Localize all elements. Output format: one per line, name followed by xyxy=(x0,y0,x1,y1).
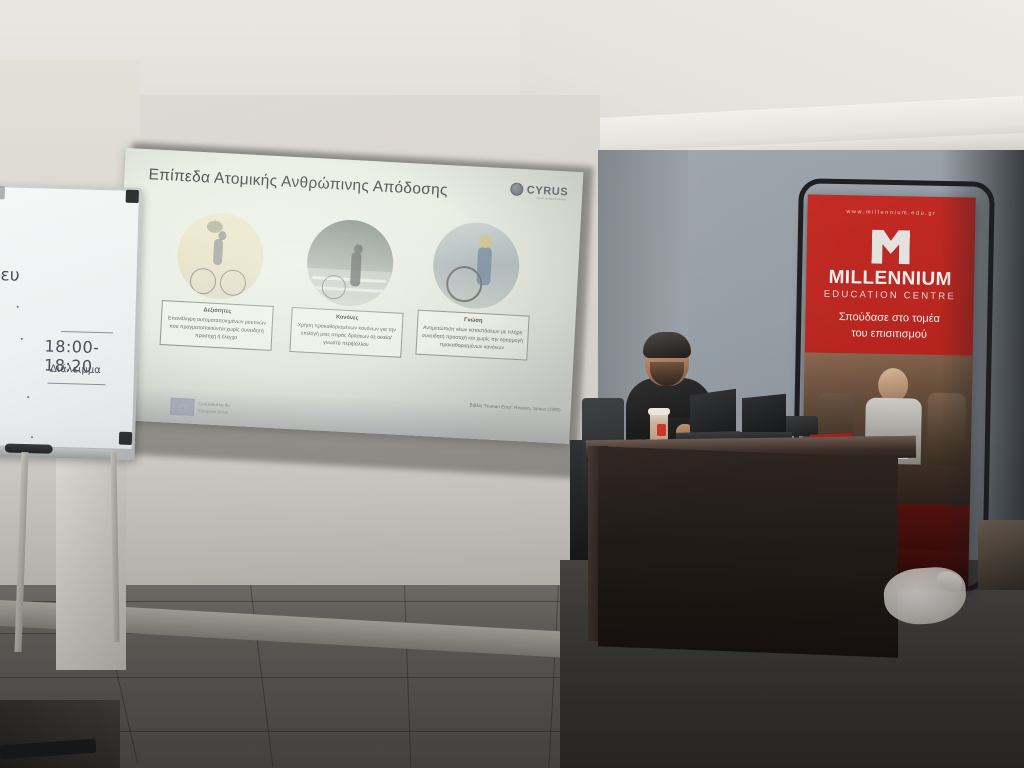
cyrus-logo-text: CYRUS xyxy=(526,184,568,198)
slide-title: Επίπεδα Ατομικής Ανθρώπινης Απόδοσης xyxy=(148,165,479,203)
cyrus-logo: CYRUS cyrus research centre xyxy=(510,182,568,198)
rules-label-box: Κανόνες Χρήση προκαθορισμένων κανόνων γι… xyxy=(289,307,403,358)
desk-front-panel xyxy=(598,446,898,658)
coffee-cup-lid xyxy=(648,408,670,415)
whiteboard-corner-tr xyxy=(126,190,139,203)
whiteboard-corner-br xyxy=(119,432,132,445)
cyrus-emblem-icon xyxy=(510,182,524,196)
cyclist-sunset-image xyxy=(175,211,265,301)
slide-column-rules: Κανόνες Χρήση προκαθορισμένων κανόνων γι… xyxy=(289,217,408,358)
skills-body: Επανάληψη αυτοματοποιημένων ρουτινών που… xyxy=(164,314,269,344)
whiteboard-eraser[interactable] xyxy=(5,443,53,453)
rules-body: Χρήση προκαθορισμένων κανόνων για την επ… xyxy=(294,321,399,351)
skills-label-box: Δεξιότητες Επανάληψη αυτοματοποιημένων ρ… xyxy=(160,300,274,351)
slide-column-knowledge: Γνώση Αντιμετώπιση νέων καταστάσεων με π… xyxy=(415,220,534,361)
whiteboard-corner-tl xyxy=(0,186,5,199)
instructor-hair xyxy=(643,332,691,358)
whiteboard: τιευ 18:00-18:20 Διάλειμμα xyxy=(0,184,142,478)
coffee-cup-label xyxy=(657,424,666,436)
whiteboard-note-partial: τιευ xyxy=(0,265,20,286)
crosswalk-bike-image xyxy=(305,218,395,308)
bike-repair-image xyxy=(431,220,521,310)
whiteboard-frame: τιευ 18:00-18:20 Διάλειμμα xyxy=(0,184,142,460)
projection-screen: Επίπεδα Ατομικής Ανθρώπινης Απόδοσης CYR… xyxy=(110,136,588,472)
presentation-slide: Επίπεδα Ατομικής Ανθρώπινης Απόδοσης CYR… xyxy=(112,148,584,444)
knowledge-label-box: Γνώση Αντιμετώπιση νέων καταστάσεων με π… xyxy=(415,310,529,361)
slide-column-skills: Δεξιότητες Επανάληψη αυτοματοποιημένων ρ… xyxy=(160,210,279,351)
whiteboard-break-note: Διάλειμμα xyxy=(50,364,101,376)
whiteboard-surface[interactable]: τιευ 18:00-18:20 Διάλειμμα xyxy=(0,187,139,449)
floor-object-right xyxy=(978,520,1024,590)
cyrus-logo-subtitle: cyrus research centre xyxy=(537,197,566,202)
knowledge-body: Αντιμετώπιση νέων καταστάσεων με πλήρη σ… xyxy=(420,324,525,354)
photo-scene: Επίπεδα Ατομικής Ανθρώπινης Απόδοσης CYR… xyxy=(0,0,1024,768)
